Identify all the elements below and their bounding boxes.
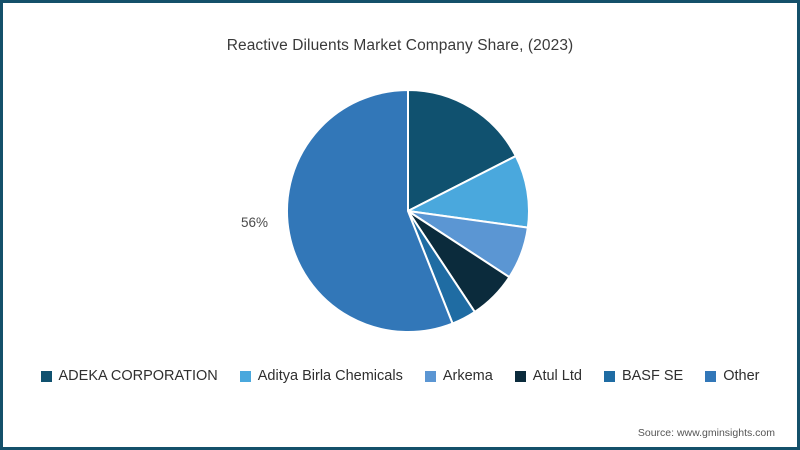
legend-swatch-icon: [425, 371, 436, 382]
legend-item-label: ADEKA CORPORATION: [59, 368, 218, 384]
legend-swatch-icon: [604, 371, 615, 382]
chart-figure: Reactive Diluents Market Company Share, …: [0, 0, 800, 450]
legend-item[interactable]: Arkema: [425, 368, 493, 384]
pie-slice-group: [287, 90, 529, 332]
page-title: Reactive Diluents Market Company Share, …: [3, 37, 797, 55]
legend-item-label: Arkema: [443, 368, 493, 384]
legend-item-label: Aditya Birla Chemicals: [258, 368, 403, 384]
legend-item[interactable]: Atul Ltd: [515, 368, 582, 384]
legend-item[interactable]: ADEKA CORPORATION: [41, 368, 218, 384]
slice-value-label-other: 56%: [241, 215, 268, 230]
legend-swatch-icon: [240, 371, 251, 382]
legend-item[interactable]: Aditya Birla Chemicals: [240, 368, 403, 384]
pie-chart: [286, 89, 530, 333]
legend-item-label: Atul Ltd: [533, 368, 582, 384]
chart-legend: ADEKA CORPORATIONAditya Birla ChemicalsA…: [3, 368, 797, 384]
legend-item[interactable]: Other: [705, 368, 759, 384]
legend-item-label: Other: [723, 368, 759, 384]
legend-swatch-icon: [515, 371, 526, 382]
source-attribution: Source: www.gminsights.com: [638, 427, 775, 439]
legend-swatch-icon: [705, 371, 716, 382]
legend-swatch-icon: [41, 371, 52, 382]
legend-item[interactable]: BASF SE: [604, 368, 683, 384]
legend-item-label: BASF SE: [622, 368, 683, 384]
pie-chart-svg: [286, 89, 530, 333]
